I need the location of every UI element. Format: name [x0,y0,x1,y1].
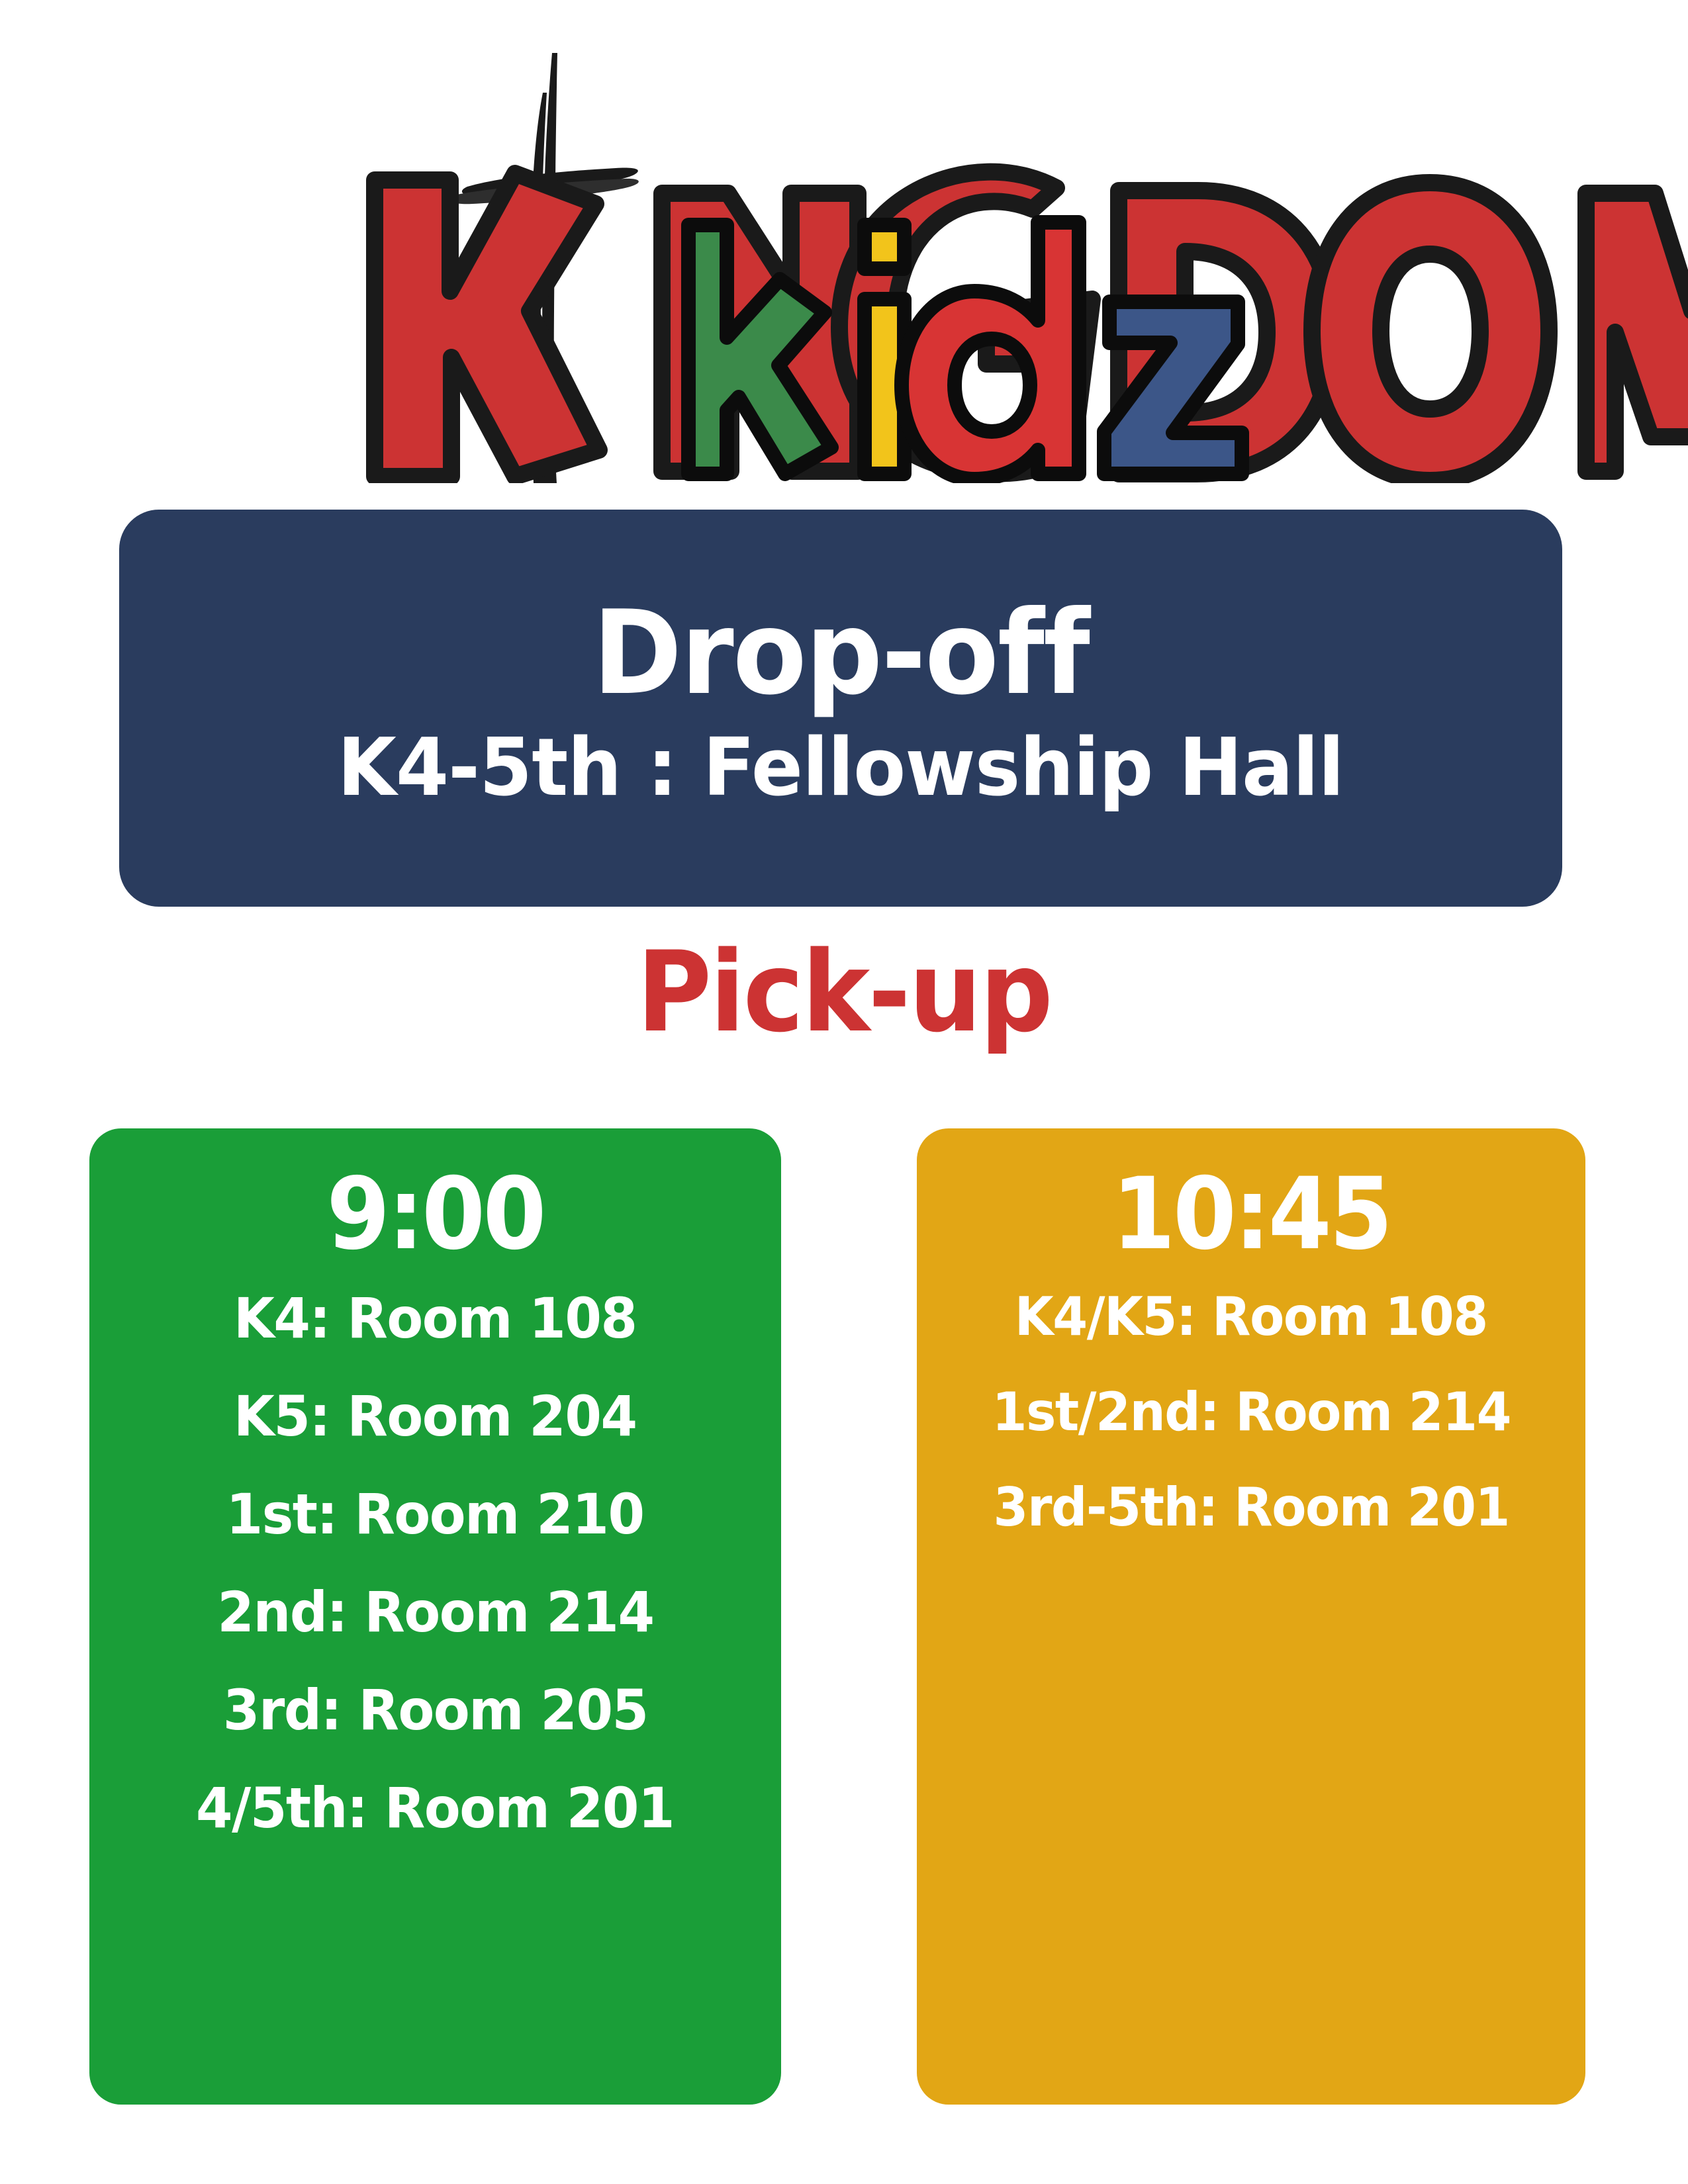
room-line: K4: Room 108 [234,1291,637,1346]
session-room-list: K4: Room 108 K5: Room 204 1st: Room 210 … [101,1291,769,1878]
session-time: 9:00 [128,1165,742,1264]
room-line: K5: Room 204 [234,1388,637,1444]
room-line: 1st/2nd: Room 214 [992,1386,1510,1439]
session-time: 10:45 [955,1165,1548,1264]
dropoff-subtitle: K4-5th : Fellowship Hall [338,729,1344,808]
room-line: 4/5th: Room 201 [196,1780,674,1836]
dropoff-title: Drop-off [592,599,1089,709]
room-line: 2nd: Room 214 [217,1584,653,1640]
dropoff-banner: Drop-off K4-5th : Fellowship Hall [119,510,1562,907]
pickup-title: Pick-up [68,936,1620,1048]
kingdom-kidz-logo [0,26,1688,483]
session-room-list: K4/K5: Room 108 1st/2nd: Room 214 3rd-5t… [929,1291,1573,1576]
room-line: 3rd-5th: Room 201 [993,1481,1509,1534]
pickup-session-card-late: 10:45 K4/K5: Room 108 1st/2nd: Room 214 … [917,1128,1585,2105]
pickup-session-card-morning: 9:00 K4: Room 108 K5: Room 204 1st: Room… [89,1128,781,2105]
room-line: 1st: Room 210 [226,1486,644,1542]
room-line: K4/K5: Room 108 [1015,1291,1487,1343]
room-line: 3rd: Room 205 [223,1682,648,1738]
